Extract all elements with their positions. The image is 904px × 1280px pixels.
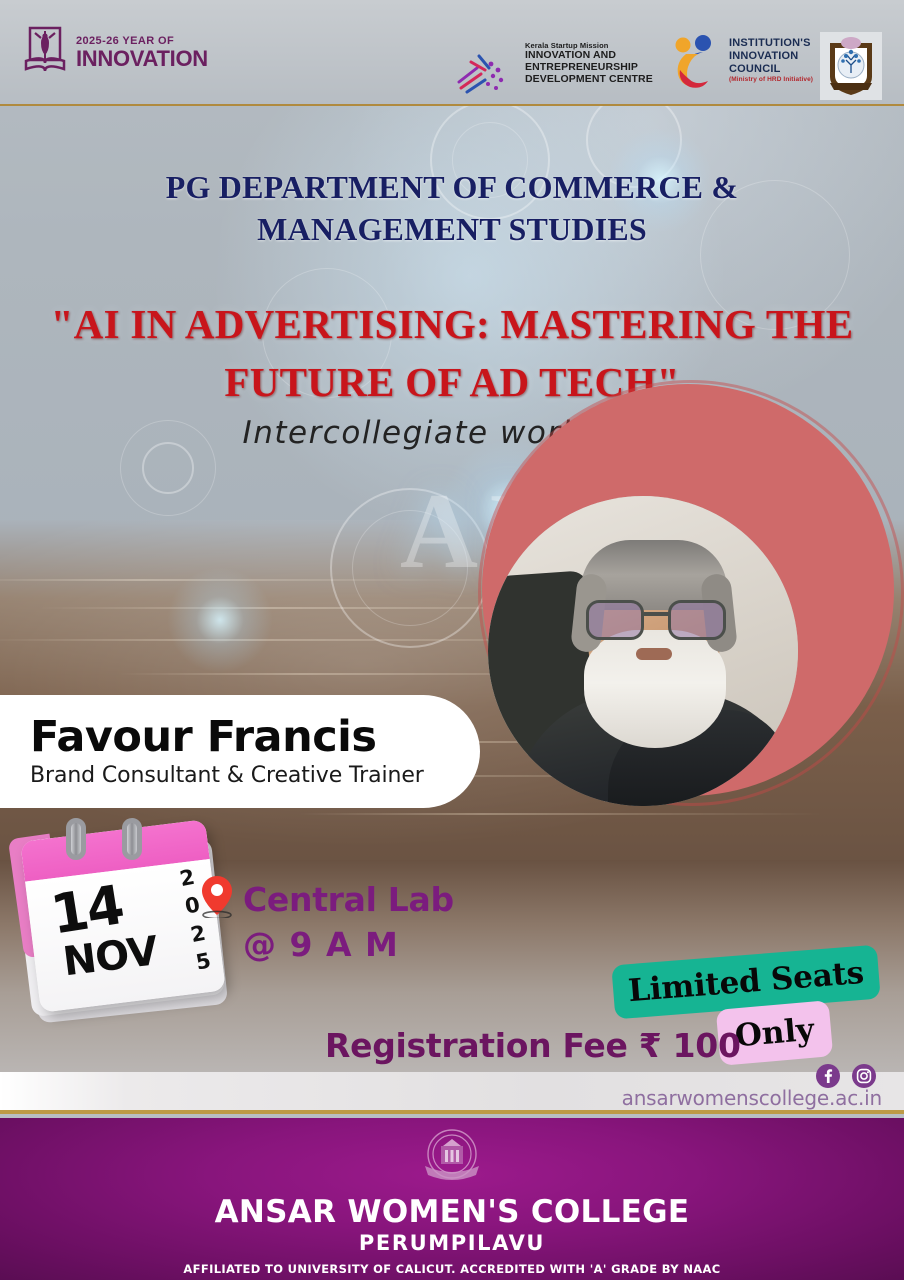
light-spark: [160, 560, 280, 680]
eyeglasses-icon: [584, 600, 730, 640]
iic-figure-icon: [670, 32, 722, 88]
location-pin-icon: [200, 874, 234, 918]
speaker-role: Brand Consultant & Creative Trainer: [30, 763, 480, 788]
iic-ministry-note: (Ministry of HRD Initiative): [729, 76, 813, 84]
year-of-innovation-logo: 2025-26 YEAR OF INNOVATION: [22, 25, 208, 77]
speaker-name-card: Favour Francis Brand Consultant & Creati…: [0, 695, 480, 808]
limited-seats-label: Limited Seats: [627, 955, 865, 1009]
yoi-big-line: INNOVATION: [76, 46, 208, 71]
footer-place: PERUMPILAVU: [0, 1231, 904, 1255]
iic-logo: INSTITUTION'S INNOVATION COUNCIL (Minist…: [670, 32, 813, 88]
footer-affiliation: AFFILIATED TO UNIVERSITY OF CALICUT. ACC…: [0, 1262, 904, 1276]
header-band: 2025-26 YEAR OF INNOVATION: [0, 0, 904, 106]
college-seal-header-icon: [820, 32, 882, 100]
department-line-1: PG DEPARTMENT OF COMMERCE &: [0, 166, 904, 208]
department-line-2: MANAGEMENT STUDIES: [0, 208, 904, 250]
iic-line-1: INSTITUTION'S: [729, 37, 813, 50]
iedc-line-3: DEVELOPMENT CENTRE: [525, 74, 653, 86]
instagram-icon[interactable]: [852, 1064, 876, 1088]
speaker-name: Favour Francis: [30, 715, 480, 760]
college-crest-icon: [419, 1126, 485, 1192]
footer-band: ANSAR WOMEN'S COLLEGE PERUMPILAVU AFFILI…: [0, 1118, 904, 1280]
speaker-photo: [488, 496, 798, 806]
only-label: Only: [733, 1012, 815, 1055]
social-icons[interactable]: [816, 1064, 876, 1088]
calendar-ring-binders: [60, 822, 180, 862]
calendar-year-digit: 2: [189, 918, 209, 949]
facebook-icon[interactable]: [816, 1064, 840, 1088]
poster-root: AI 2025-26 YEAR OF INNOVAT: [0, 0, 904, 1280]
page-title-department: PG DEPARTMENT OF COMMERCE & MANAGEMENT S…: [0, 166, 904, 250]
registration-fee: Registration Fee ₹ 100: [325, 1026, 741, 1065]
calendar-year-digit: 5: [194, 946, 214, 977]
open-book-person-icon: [22, 25, 68, 77]
event-time: @ 9 A M: [243, 925, 399, 964]
yoi-top-line: 2025-26 YEAR OF: [76, 35, 174, 47]
event-venue: Central Lab: [243, 880, 454, 919]
calendar-year-digit: 2: [178, 863, 198, 894]
ksum-iedc-logo: Kerala Startup Mission INNOVATION AND EN…: [525, 42, 653, 86]
iic-line-2: INNOVATION: [729, 50, 813, 63]
iic-line-3: COUNCIL: [729, 63, 813, 76]
year-of-innovation-text: 2025-26 YEAR OF INNOVATION: [76, 32, 208, 71]
iic-text: INSTITUTION'S INNOVATION COUNCIL (Minist…: [729, 37, 813, 84]
workshop-title-line-1: "AI IN ADVERTISING: MASTERING THE: [0, 295, 904, 353]
ksum-burst-icon: [455, 48, 521, 94]
website-url[interactable]: ansarwomenscollege.ac.in: [622, 1086, 882, 1110]
calendar-month: NOV: [60, 928, 159, 985]
event-date-calendar: 14 NOV 2 0 2 5: [14, 822, 234, 1022]
footer-college-name: ANSAR WOMEN'S COLLEGE: [0, 1194, 904, 1230]
